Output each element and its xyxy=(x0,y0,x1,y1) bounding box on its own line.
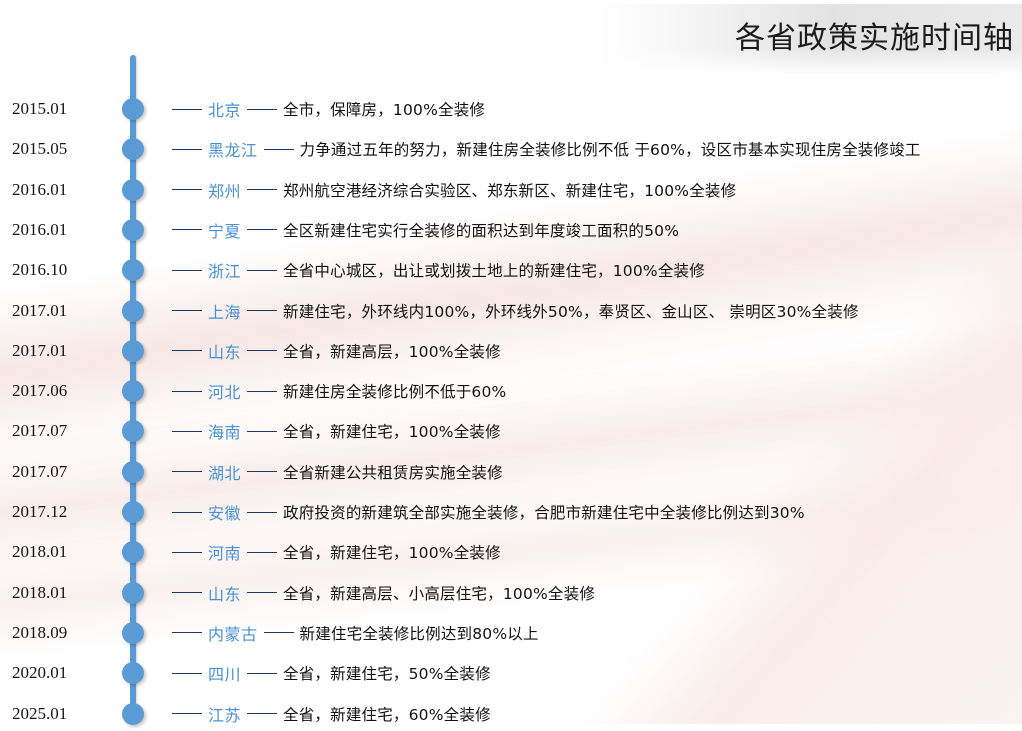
timeline-dot-marker[interactable] xyxy=(122,179,144,201)
timeline-province-label: 北京 xyxy=(208,97,241,121)
separator-dash-icon xyxy=(247,471,277,472)
separator-dash-icon xyxy=(247,229,277,230)
timeline-row: 2020.01四川全省，新建住宅，50%全装修 xyxy=(0,656,1022,690)
timeline-province-label: 内蒙古 xyxy=(208,621,258,645)
timeline-row: 2017.01上海新建住宅，外环线内100%，外环线外50%，奉贤区、金山区、 … xyxy=(0,294,1022,328)
separator-dash-icon xyxy=(247,592,277,593)
timeline-date: 2015.05 xyxy=(12,139,116,159)
timeline-province-label: 黑龙江 xyxy=(208,137,258,161)
timeline-description: 全省，新建住宅，50%全装修 xyxy=(283,662,491,684)
timeline-dot-marker[interactable] xyxy=(122,703,144,725)
timeline-province-label: 浙江 xyxy=(208,258,241,282)
timeline-description: 全省，新建高层，100%全装修 xyxy=(283,340,501,362)
timeline-province-label: 海南 xyxy=(208,419,241,443)
leading-dash-icon xyxy=(172,592,202,593)
timeline-date: 2016.01 xyxy=(12,220,116,240)
timeline-description: 全区新建住宅实行全装修的面积达到年度竣工面积的50% xyxy=(283,219,679,241)
timeline-entry: 河南全省，新建住宅，100%全装修 xyxy=(172,535,501,569)
timeline-entry: 湖北全省新建公共租赁房实施全装修 xyxy=(172,455,503,489)
timeline-row: 2016.10浙江全省中心城区，出让或划拨土地上的新建住宅，100%全装修 xyxy=(0,253,1022,287)
timeline-entry: 河北新建住房全装修比例不低于60% xyxy=(172,374,506,408)
timeline-date: 2017.01 xyxy=(12,341,116,361)
timeline-entry: 江苏全省，新建住宅，60%全装修 xyxy=(172,697,491,731)
timeline-row: 2017.01山东全省，新建高层，100%全装修 xyxy=(0,334,1022,368)
timeline-description: 新建住房全装修比例不低于60% xyxy=(283,380,506,402)
timeline-entry: 黑龙江力争通过五年的努力，新建住房全装修比例不低 于60%，设区市基本实现住房全… xyxy=(172,132,921,166)
timeline-entry: 宁夏全区新建住宅实行全装修的面积达到年度竣工面积的50% xyxy=(172,213,679,247)
timeline-description: 全省，新建住宅，100%全装修 xyxy=(283,420,501,442)
timeline-entry: 安徽政府投资的新建筑全部实施全装修，合肥市新建住宅中全装修比例达到30% xyxy=(172,495,805,529)
timeline-dot-marker[interactable] xyxy=(122,541,144,563)
timeline-dot-marker[interactable] xyxy=(122,138,144,160)
timeline-date: 2020.01 xyxy=(12,663,116,683)
timeline-row: 2018.09内蒙古新建住宅全装修比例达到80%以上 xyxy=(0,616,1022,650)
separator-dash-icon xyxy=(247,270,277,271)
timeline-date: 2017.07 xyxy=(12,462,116,482)
leading-dash-icon xyxy=(172,270,202,271)
timeline-dot-marker[interactable] xyxy=(122,662,144,684)
timeline-date: 2018.09 xyxy=(12,623,116,643)
timeline-date: 2015.01 xyxy=(12,99,116,119)
timeline-description: 政府投资的新建筑全部实施全装修，合肥市新建住宅中全装修比例达到30% xyxy=(283,501,805,523)
timeline-description: 新建住宅，外环线内100%，外环线外50%，奉贤区、金山区、 崇明区30%全装修 xyxy=(283,300,859,322)
timeline-description: 全省，新建住宅，100%全装修 xyxy=(283,541,501,563)
timeline-date: 2025.01 xyxy=(12,704,116,724)
leading-dash-icon xyxy=(172,229,202,230)
timeline-description: 郑州航空港经济综合实验区、郑东新区、新建住宅，100%全装修 xyxy=(283,179,736,201)
leading-dash-icon xyxy=(172,632,202,633)
separator-dash-icon xyxy=(247,713,277,714)
separator-dash-icon xyxy=(247,109,277,110)
timeline-province-label: 安徽 xyxy=(208,500,241,524)
timeline-province-label: 郑州 xyxy=(208,178,241,202)
timeline-row: 2025.01江苏全省，新建住宅，60%全装修 xyxy=(0,697,1022,731)
timeline-description: 力争通过五年的努力，新建住房全装修比例不低 于60%，设区市基本实现住房全装修竣… xyxy=(300,138,921,160)
separator-dash-icon xyxy=(264,632,294,633)
timeline-dot-marker[interactable] xyxy=(122,300,144,322)
timeline-description: 全省，新建住宅，60%全装修 xyxy=(283,703,491,725)
timeline-dot-marker[interactable] xyxy=(122,259,144,281)
separator-dash-icon xyxy=(264,149,294,150)
leading-dash-icon xyxy=(172,350,202,351)
leading-dash-icon xyxy=(172,552,202,553)
leading-dash-icon xyxy=(172,512,202,513)
timeline-date: 2017.01 xyxy=(12,301,116,321)
timeline-dot-marker[interactable] xyxy=(122,420,144,442)
timeline-date: 2017.12 xyxy=(12,502,116,522)
timeline-date: 2016.10 xyxy=(12,260,116,280)
separator-dash-icon xyxy=(247,552,277,553)
timeline-row: 2015.05黑龙江力争通过五年的努力，新建住房全装修比例不低 于60%，设区市… xyxy=(0,132,1022,166)
timeline-province-label: 上海 xyxy=(208,299,241,323)
timeline-row: 2018.01山东全省，新建高层、小高层住宅，100%全装修 xyxy=(0,576,1022,610)
timeline-date: 2017.07 xyxy=(12,421,116,441)
timeline-dot-marker[interactable] xyxy=(122,461,144,483)
timeline-entry: 山东全省，新建高层、小高层住宅，100%全装修 xyxy=(172,576,595,610)
timeline-row: 2016.01郑州郑州航空港经济综合实验区、郑东新区、新建住宅，100%全装修 xyxy=(0,173,1022,207)
timeline-province-label: 宁夏 xyxy=(208,218,241,242)
timeline-province-label: 山东 xyxy=(208,339,241,363)
leading-dash-icon xyxy=(172,713,202,714)
separator-dash-icon xyxy=(247,310,277,311)
timeline-province-label: 河北 xyxy=(208,379,241,403)
separator-dash-icon xyxy=(247,673,277,674)
timeline-date: 2018.01 xyxy=(12,542,116,562)
timeline-row: 2017.06河北新建住房全装修比例不低于60% xyxy=(0,374,1022,408)
leading-dash-icon xyxy=(172,189,202,190)
timeline-date: 2018.01 xyxy=(12,583,116,603)
timeline-province-label: 湖北 xyxy=(208,460,241,484)
separator-dash-icon xyxy=(247,512,277,513)
timeline-province-label: 河南 xyxy=(208,540,241,564)
timeline-description: 全省新建公共租赁房实施全装修 xyxy=(283,461,503,483)
timeline-dot-marker[interactable] xyxy=(122,622,144,644)
timeline-dot-marker[interactable] xyxy=(122,98,144,120)
timeline-dot-marker[interactable] xyxy=(122,582,144,604)
timeline-entry: 内蒙古新建住宅全装修比例达到80%以上 xyxy=(172,616,539,650)
separator-dash-icon xyxy=(247,391,277,392)
leading-dash-icon xyxy=(172,673,202,674)
timeline-entry: 北京全市，保障房，100%全装修 xyxy=(172,92,485,126)
timeline-row: 2018.01河南全省，新建住宅，100%全装修 xyxy=(0,535,1022,569)
timeline-description: 全省中心城区，出让或划拨土地上的新建住宅，100%全装修 xyxy=(283,259,705,281)
timeline-row: 2016.01宁夏全区新建住宅实行全装修的面积达到年度竣工面积的50% xyxy=(0,213,1022,247)
separator-dash-icon xyxy=(247,431,277,432)
leading-dash-icon xyxy=(172,109,202,110)
timeline-description: 全市，保障房，100%全装修 xyxy=(283,98,485,120)
timeline-row: 2017.12安徽政府投资的新建筑全部实施全装修，合肥市新建住宅中全装修比例达到… xyxy=(0,495,1022,529)
timeline-description: 新建住宅全装修比例达到80%以上 xyxy=(300,622,539,644)
separator-dash-icon xyxy=(247,189,277,190)
timeline-row: 2017.07湖北全省新建公共租赁房实施全装修 xyxy=(0,455,1022,489)
leading-dash-icon xyxy=(172,149,202,150)
leading-dash-icon xyxy=(172,431,202,432)
timeline-entry: 四川全省，新建住宅，50%全装修 xyxy=(172,656,491,690)
timeline-entry: 浙江全省中心城区，出让或划拨土地上的新建住宅，100%全装修 xyxy=(172,253,705,287)
timeline-entry: 郑州郑州航空港经济综合实验区、郑东新区、新建住宅，100%全装修 xyxy=(172,173,736,207)
timeline-dot-marker[interactable] xyxy=(122,501,144,523)
timeline-dot-marker[interactable] xyxy=(122,340,144,362)
leading-dash-icon xyxy=(172,310,202,311)
separator-dash-icon xyxy=(247,350,277,351)
timeline-entry: 海南全省，新建住宅，100%全装修 xyxy=(172,414,501,448)
timeline-dot-marker[interactable] xyxy=(122,380,144,402)
timeline-entry: 上海新建住宅，外环线内100%，外环线外50%，奉贤区、金山区、 崇明区30%全… xyxy=(172,294,859,328)
leading-dash-icon xyxy=(172,391,202,392)
timeline-province-label: 四川 xyxy=(208,661,241,685)
timeline-province-label: 山东 xyxy=(208,581,241,605)
timeline-entry: 山东全省，新建高层，100%全装修 xyxy=(172,334,501,368)
timeline-dot-marker[interactable] xyxy=(122,219,144,241)
timeline-row: 2017.07海南全省，新建住宅，100%全装修 xyxy=(0,414,1022,448)
timeline: 2015.01北京全市，保障房，100%全装修2015.05黑龙江力争通过五年的… xyxy=(0,0,1022,724)
timeline-date: 2016.01 xyxy=(12,180,116,200)
timeline-row: 2015.01北京全市，保障房，100%全装修 xyxy=(0,92,1022,126)
leading-dash-icon xyxy=(172,471,202,472)
timeline-date: 2017.06 xyxy=(12,381,116,401)
timeline-province-label: 江苏 xyxy=(208,702,241,726)
timeline-description: 全省，新建高层、小高层住宅，100%全装修 xyxy=(283,582,595,604)
